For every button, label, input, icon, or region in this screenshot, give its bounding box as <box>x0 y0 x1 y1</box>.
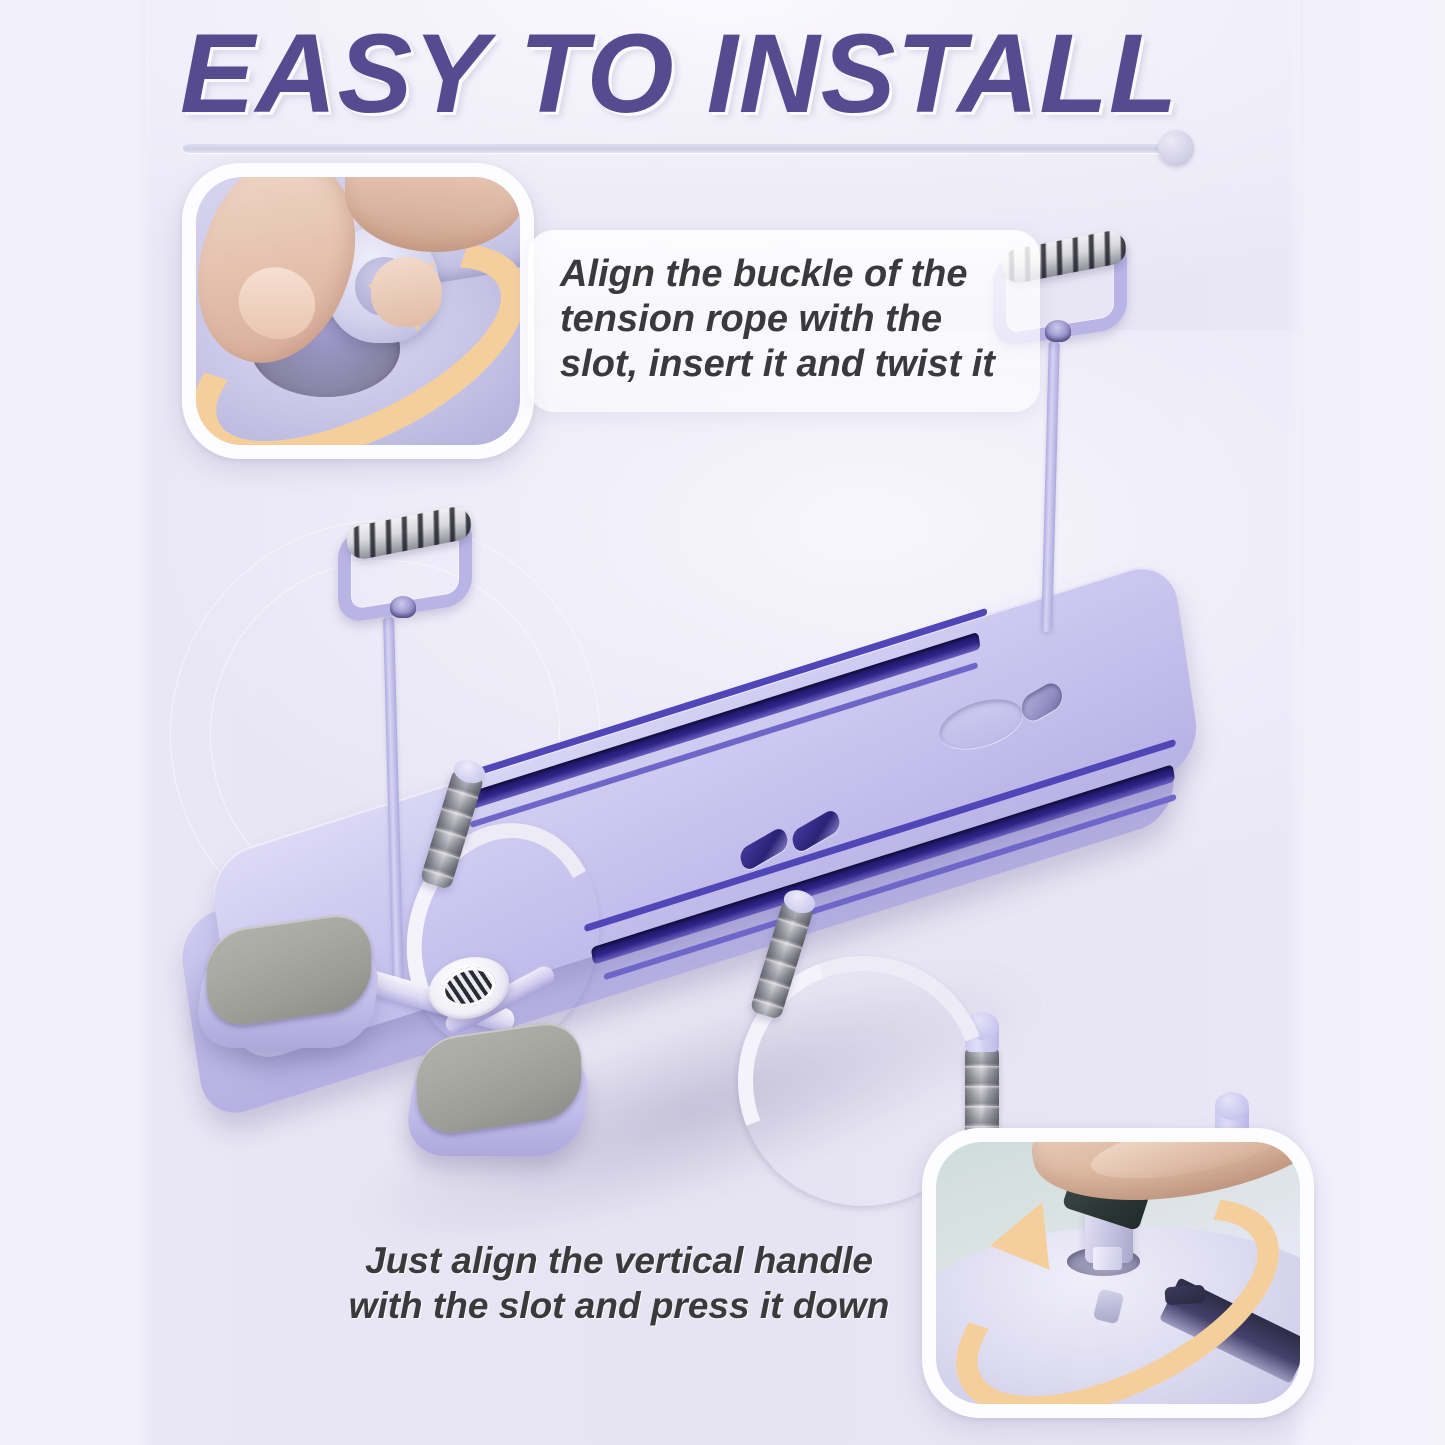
page-title: EASY TO INSTALL <box>180 18 1178 130</box>
knee-pad-left[interactable] <box>200 922 376 1058</box>
pull-rope-handle-left[interactable] <box>330 510 480 620</box>
header-divider-rule <box>183 144 1183 153</box>
handle-buckle-knob <box>1045 320 1071 342</box>
step-2-caption: Just align the vertical handle with the … <box>330 1238 908 1328</box>
handle-buckle-knob <box>390 596 416 618</box>
handle-press-photo <box>922 1128 1314 1418</box>
infographic-canvas: EASY TO INSTALL <box>0 0 1445 1445</box>
buckle-twist-photo <box>182 163 534 459</box>
dial-pattern <box>438 961 500 1012</box>
step-1-caption: Align the buckle of the tension rope wit… <box>560 252 1030 387</box>
divider-end-dot-icon <box>1158 130 1194 166</box>
handle-shaft-tip <box>1093 1247 1122 1271</box>
photo-clip <box>936 1142 1300 1404</box>
fingernail <box>371 257 442 327</box>
photo-clip <box>196 177 520 445</box>
grip-tip-cap <box>451 756 488 786</box>
knee-pad-right[interactable] <box>410 1030 586 1166</box>
header: EASY TO INSTALL <box>145 18 1300 133</box>
post-cap <box>1215 1092 1249 1120</box>
